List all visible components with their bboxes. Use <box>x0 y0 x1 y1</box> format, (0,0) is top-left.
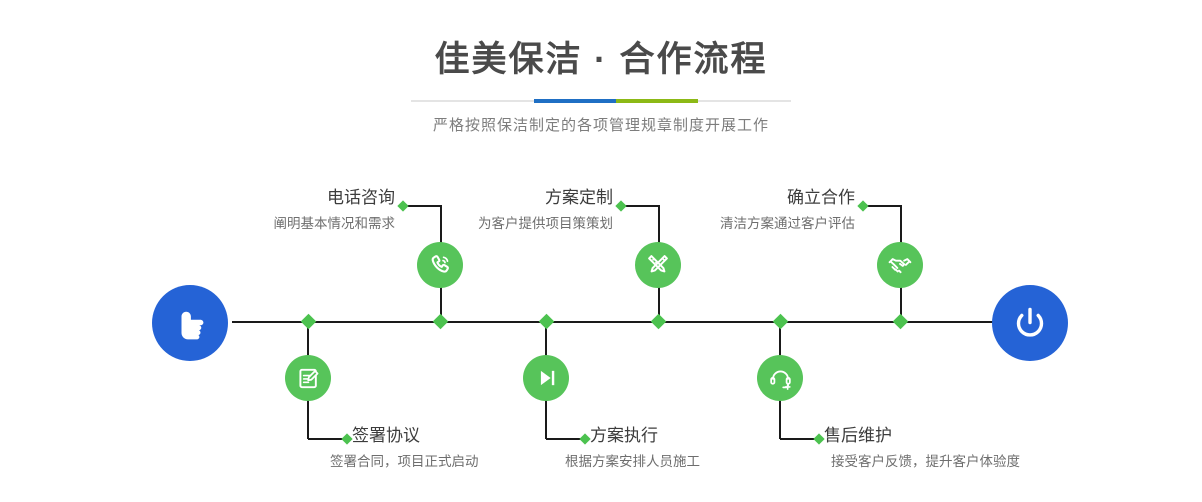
axis-node-5 <box>773 314 789 330</box>
handshake-icon <box>886 251 914 279</box>
timeline-diagram: 电话咨询 阐明基本情况和需求 签署协议 签署合同，项目正式启动 <box>0 0 1202 502</box>
axis-node-3 <box>539 314 555 330</box>
step-3-icon-badge[interactable] <box>635 242 681 288</box>
step-4-icon-badge[interactable] <box>523 355 569 401</box>
timeline-axis <box>232 321 997 323</box>
step-2-tip <box>341 433 352 444</box>
start-node[interactable] <box>152 285 228 361</box>
end-node[interactable] <box>992 285 1068 361</box>
process-flow-infographic: 佳美保洁 · 合作流程 严格按照保洁制定的各项管理规章制度开展工作 <box>0 0 1202 502</box>
step-5-icon-badge[interactable] <box>877 242 923 288</box>
divider-segment-blue <box>534 99 616 103</box>
axis-node-1 <box>301 314 317 330</box>
step-6-label: 售后维护 接受客户反馈，提升客户体验度 <box>824 427 1164 470</box>
document-pencil-icon <box>295 365 322 392</box>
axis-node-4 <box>651 314 667 330</box>
power-icon <box>1008 301 1052 345</box>
step-1-icon-badge[interactable] <box>417 242 463 288</box>
axis-node-2 <box>433 314 449 330</box>
step-6-subtitle: 接受客户反馈，提升客户体验度 <box>831 455 1164 470</box>
step-6-title: 售后维护 <box>824 427 1164 446</box>
pointing-hand-icon <box>168 301 212 345</box>
divider-segment-green <box>616 99 698 103</box>
step-5-subtitle: 清洁方案通过客户评估 <box>530 217 855 232</box>
step-2-icon-badge[interactable] <box>285 355 331 401</box>
step-5-title: 确立合作 <box>530 189 855 208</box>
play-next-icon <box>533 365 559 391</box>
step-6-icon-badge[interactable] <box>757 355 803 401</box>
headset-add-icon <box>767 365 794 392</box>
step-5-tip <box>857 200 868 211</box>
phone-call-icon <box>426 251 454 279</box>
pencil-ruler-icon <box>644 251 672 279</box>
step-5-label: 确立合作 清洁方案通过客户评估 <box>530 189 855 232</box>
axis-node-6 <box>893 314 909 330</box>
